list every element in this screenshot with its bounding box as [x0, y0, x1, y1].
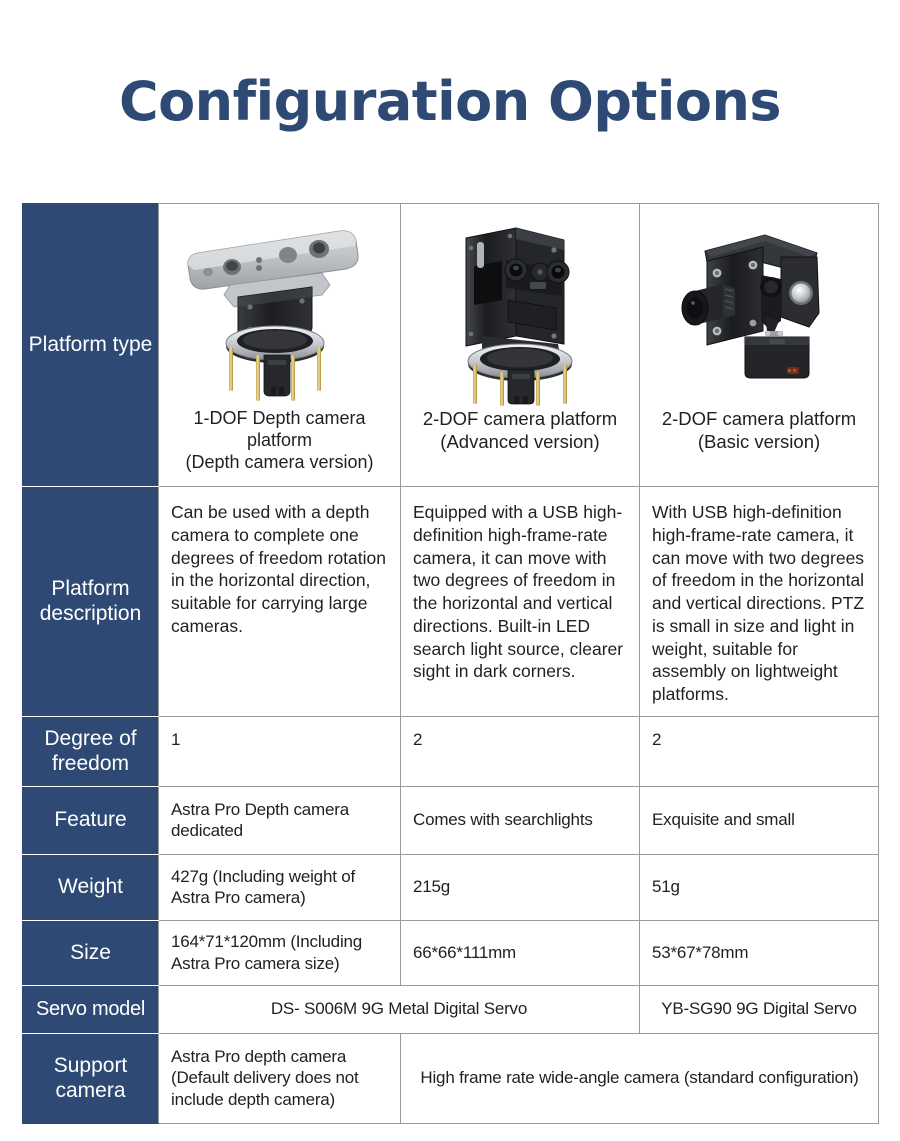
row-label-platform-type: Platform type [23, 204, 159, 487]
caption-line-2: (Advanced version) [423, 431, 617, 454]
row-label-platform-description: Platform description [23, 487, 159, 717]
cell-servo-model-left: DS- S006M 9G Metal Digital Servo [159, 985, 640, 1033]
product-cell-depth-camera: 1-DOF Depth camera platform (Depth camer… [159, 204, 401, 487]
cell-dof-depth-camera: 1 [159, 716, 401, 786]
cell-weight-depth-camera: 427g (Including weight of Astra Pro came… [159, 854, 401, 920]
caption-line-1: 1-DOF Depth camera [185, 408, 373, 430]
product-caption-advanced: 2-DOF camera platform (Advanced version) [421, 408, 619, 453]
cell-feature-advanced: Comes with searchlights [401, 786, 640, 854]
table-row-size: Size 164*71*120mm (Including Astra Pro c… [23, 920, 879, 985]
row-label-feature: Feature [23, 786, 159, 854]
cell-weight-advanced: 215g [401, 854, 640, 920]
cell-weight-basic: 51g [640, 854, 879, 920]
cell-feature-depth-camera: Astra Pro Depth camera dedicated [159, 786, 401, 854]
row-label-servo-model: Servo model [23, 985, 159, 1033]
product-caption-depth-camera: 1-DOF Depth camera platform (Depth camer… [183, 408, 375, 474]
product-cell-basic: 2-DOF camera platform (Basic version) [640, 204, 879, 487]
table-row-platform-description: Platform description Can be used with a … [23, 487, 879, 717]
table-row-servo-model: Servo model DS- S006M 9G Metal Digital S… [23, 985, 879, 1033]
depth-camera-platform-photo [165, 212, 394, 408]
caption-line-1: 2-DOF camera platform [423, 408, 617, 431]
product-caption-basic: 2-DOF camera platform (Basic version) [660, 408, 858, 453]
row-label-weight: Weight [23, 854, 159, 920]
table-row-feature: Feature Astra Pro Depth camera dedicated… [23, 786, 879, 854]
cell-support-camera-depth: Astra Pro depth camera (Default delivery… [159, 1033, 401, 1123]
product-cell-advanced: 2-DOF camera platform (Advanced version) [401, 204, 640, 487]
table-row-weight: Weight 427g (Including weight of Astra P… [23, 854, 879, 920]
caption-line-2: platform [185, 430, 373, 452]
caption-line-3: (Depth camera version) [185, 452, 373, 474]
cell-size-depth-camera: 164*71*120mm (Including Astra Pro camera… [159, 920, 401, 985]
cell-description-depth-camera: Can be used with a depth camera to compl… [159, 487, 401, 717]
table-row-degree-of-freedom: Degree of freedom 1 2 2 [23, 716, 879, 786]
cell-dof-basic: 2 [640, 716, 879, 786]
cell-servo-model-right: YB-SG90 9G Digital Servo [640, 985, 879, 1033]
cell-description-advanced: Equipped with a USB high-definition high… [401, 487, 640, 717]
row-label-degree-of-freedom: Degree of freedom [23, 716, 159, 786]
configuration-options-page: Configuration Options Platform type [0, 0, 900, 1141]
configuration-comparison-table: Platform type [22, 203, 879, 1124]
cell-support-camera-merged: High frame rate wide-angle camera (stand… [401, 1033, 879, 1123]
caption-line-1: 2-DOF camera platform [662, 408, 856, 431]
table-row-support-camera: Support camera Astra Pro depth camera (D… [23, 1033, 879, 1123]
caption-line-2: (Basic version) [662, 431, 856, 454]
row-label-size: Size [23, 920, 159, 985]
advanced-gimbal-platform-photo [407, 212, 633, 408]
cell-dof-advanced: 2 [401, 716, 640, 786]
cell-size-advanced: 66*66*111mm [401, 920, 640, 985]
table-row-platform-type: Platform type [23, 204, 879, 487]
cell-feature-basic: Exquisite and small [640, 786, 879, 854]
row-label-support-camera: Support camera [23, 1033, 159, 1123]
page-title: Configuration Options [0, 72, 900, 131]
cell-size-basic: 53*67*78mm [640, 920, 879, 985]
cell-description-basic: With USB high-definition high-frame-rate… [640, 487, 879, 717]
basic-gimbal-platform-photo [646, 212, 872, 408]
